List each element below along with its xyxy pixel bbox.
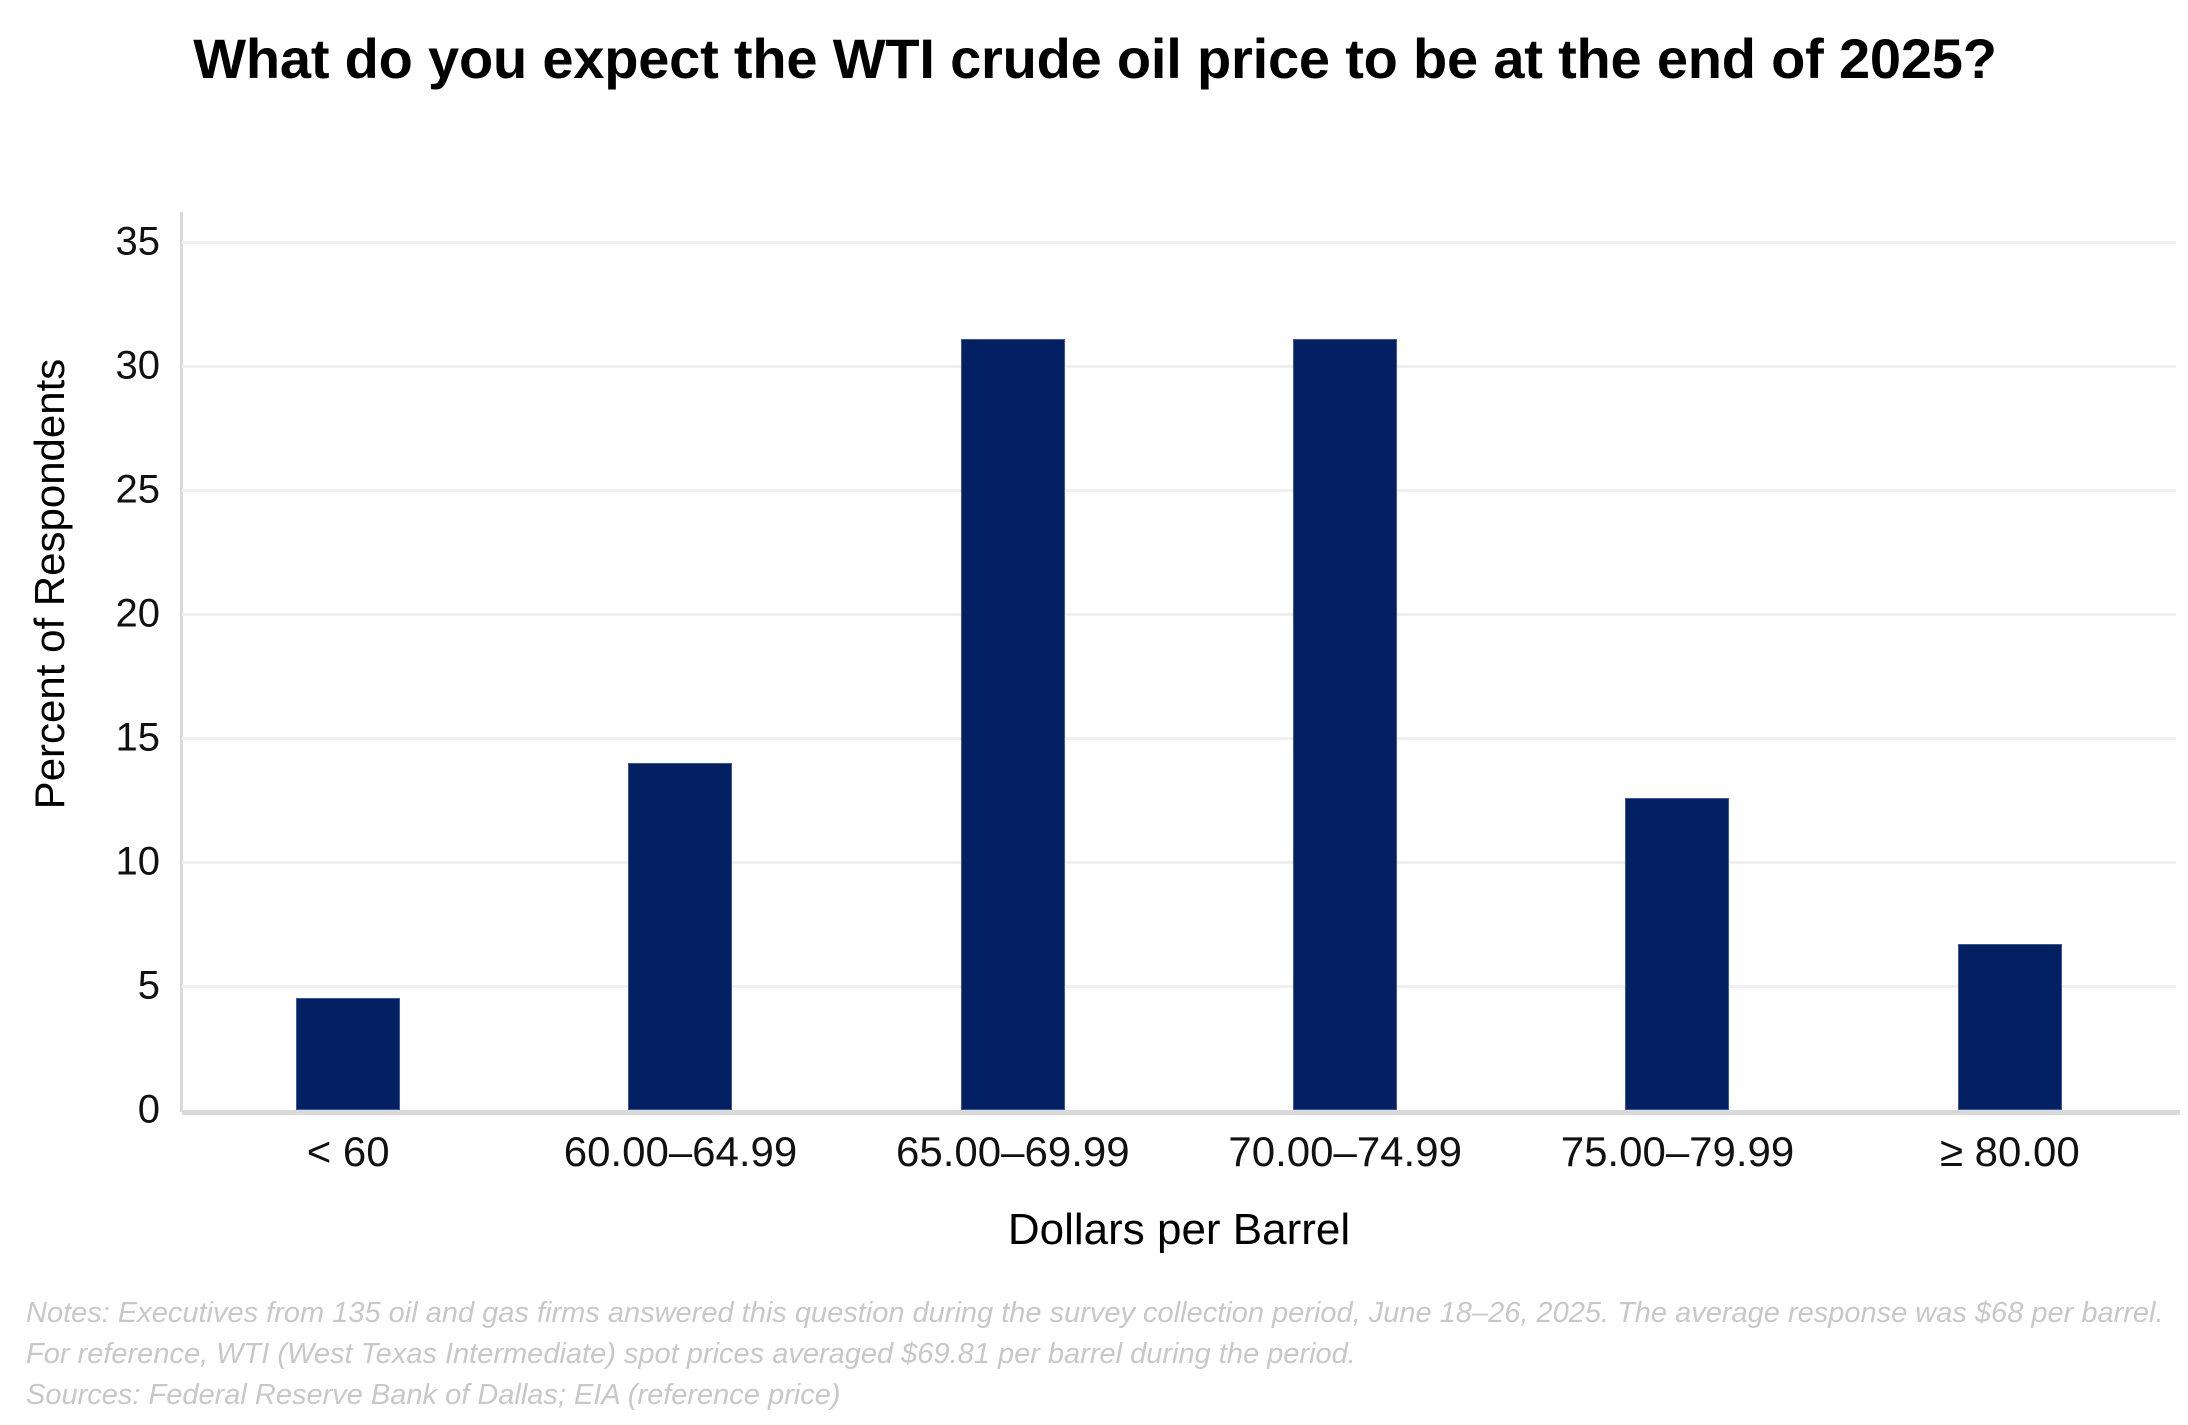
x-axis-tick-label: 75.00–79.99	[1561, 1128, 1795, 1176]
bar-slot	[847, 242, 1179, 1110]
y-axis-tick-label: 25	[40, 468, 160, 513]
bar[interactable]	[296, 998, 400, 1110]
y-axis-tick-label: 0	[40, 1088, 160, 1133]
x-axis-tick-label: < 60	[307, 1128, 390, 1176]
bar[interactable]	[1958, 944, 2062, 1110]
bar-slot	[182, 242, 514, 1110]
bar-slot	[1844, 242, 2176, 1110]
bar-slot	[514, 242, 846, 1110]
y-axis-tick-label: 15	[40, 716, 160, 761]
y-axis-tick-label: 5	[40, 964, 160, 1009]
y-axis-tick-label: 20	[40, 592, 160, 637]
bar[interactable]	[961, 339, 1065, 1110]
y-axis-tick-label: 35	[40, 220, 160, 265]
bar[interactable]	[1625, 798, 1729, 1110]
x-axis-ticks: < 6060.00–64.9965.00–69.9970.00–74.9975.…	[182, 1128, 2176, 1188]
x-axis-tick-label: 70.00–74.99	[1228, 1128, 1462, 1176]
bar[interactable]	[1293, 339, 1397, 1110]
chart-figure: What do you expect the WTI crude oil pri…	[0, 0, 2188, 1425]
x-axis-tick-label: 65.00–69.99	[896, 1128, 1130, 1176]
bar-slot	[1179, 242, 1511, 1110]
y-axis-ticks: 05101520253035	[30, 242, 160, 1110]
y-axis-tick-label: 30	[40, 344, 160, 389]
x-axis-tick-label: ≥ 80.00	[1940, 1128, 2080, 1176]
footnote-notes: Notes: Executives from 135 oil and gas f…	[26, 1293, 2166, 1375]
footnote-sources: Sources: Federal Reserve Bank of Dallas;…	[26, 1375, 2166, 1416]
footnotes: Notes: Executives from 135 oil and gas f…	[26, 1293, 2166, 1417]
bar-slot	[1511, 242, 1843, 1110]
x-axis-title: Dollars per Barrel	[182, 1205, 2176, 1255]
x-axis-line	[182, 1110, 2180, 1115]
bar[interactable]	[628, 763, 732, 1110]
page-title: What do you expect the WTI crude oil pri…	[190, 26, 2000, 92]
plot-area	[182, 242, 2176, 1110]
y-axis-tick-label: 10	[40, 840, 160, 885]
x-axis-tick-label: 60.00–64.99	[564, 1128, 798, 1176]
